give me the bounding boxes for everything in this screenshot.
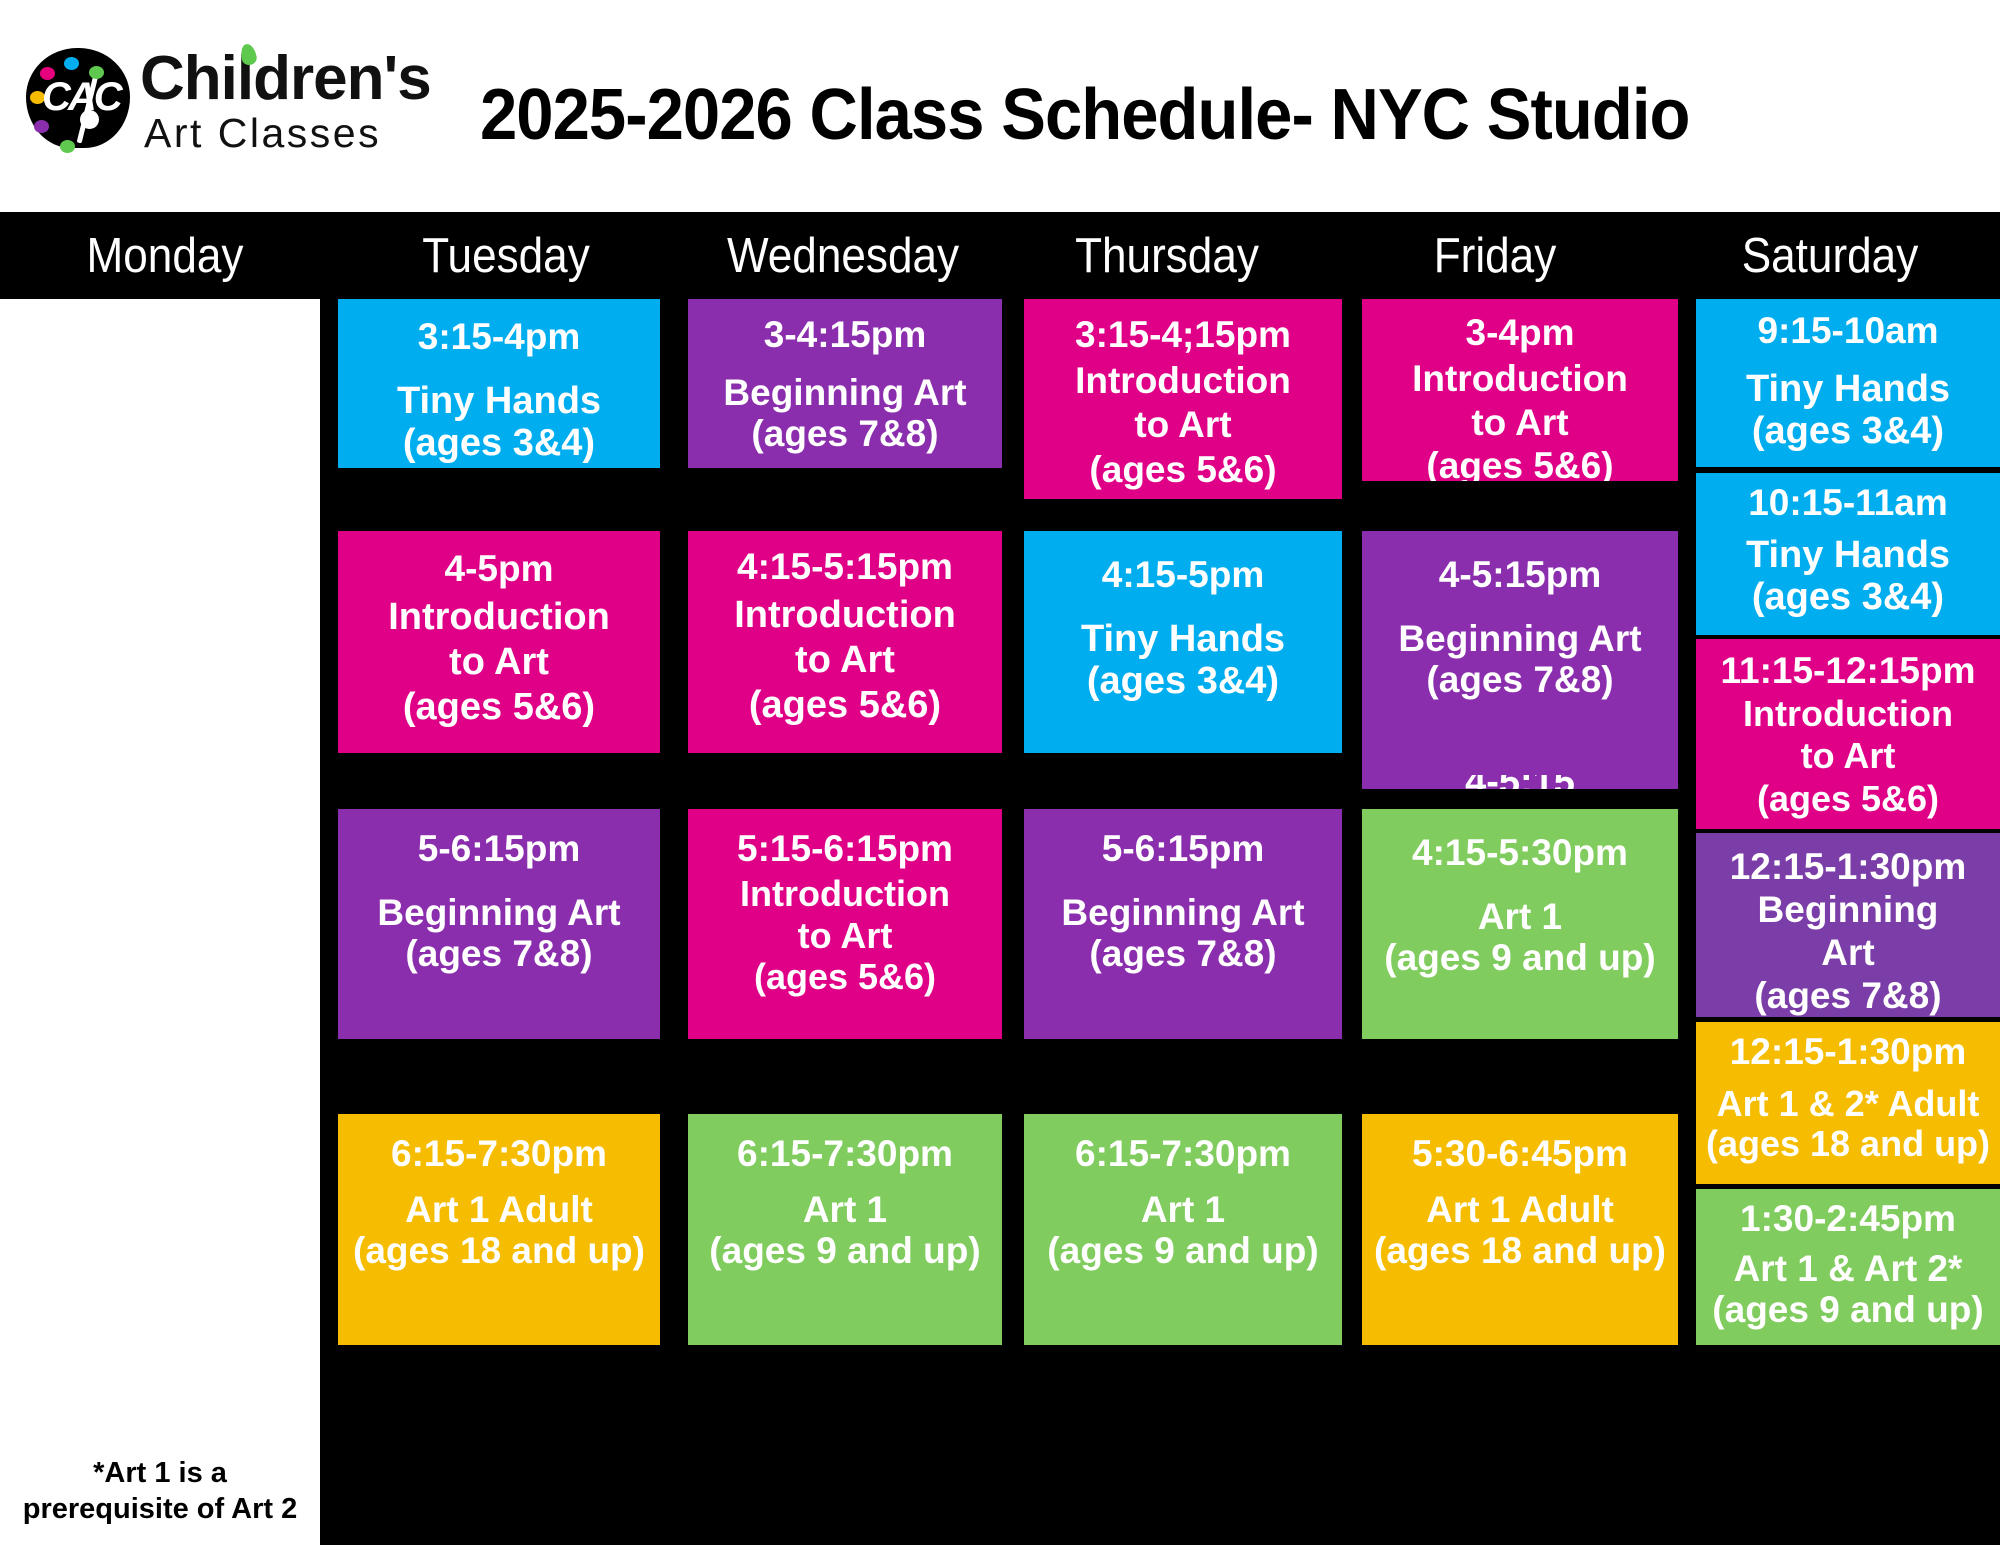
class-name-line: Art 1 Adult	[353, 1190, 645, 1231]
class-name-line: Art 1	[1047, 1190, 1318, 1231]
column-tuesday: 3:15-4pm Tiny Hands (ages 3&4) 4-5pm Int…	[320, 299, 680, 1545]
class-block-friday-3[interactable]: 4:15-5:30pm Art 1 (ages 9 and up)	[1362, 809, 1678, 1039]
class-name-line: Tiny Hands	[1746, 535, 1950, 577]
class-name-line: Introduction	[734, 593, 956, 638]
class-time: 4-5pm	[445, 549, 554, 589]
class-time: 3-4pm	[1466, 313, 1575, 353]
class-time: 5:15-6:15pm	[737, 829, 953, 869]
class-block-tuesday-4[interactable]: 6:15-7:30pm Art 1 Adult (ages 18 and up)	[338, 1114, 660, 1345]
class-time: 10:15-11am	[1748, 483, 1948, 523]
class-name-line: Art 1	[1384, 897, 1655, 938]
palette-dot-purple	[34, 120, 49, 133]
class-time: 3:15-4pm	[418, 317, 580, 357]
class-name-line: Art 1 & Art 2*	[1712, 1249, 1983, 1290]
class-block-wednesday-2[interactable]: 4:15-5:15pm Introduction to Art (ages 5&…	[688, 531, 1002, 753]
class-age-line: (ages 9 and up)	[1384, 938, 1655, 979]
class-time: 11:15-12:15pm	[1720, 651, 1975, 691]
class-block-thursday-2[interactable]: 4:15-5pm Tiny Hands (ages 3&4)	[1024, 531, 1342, 753]
class-block-saturday-4[interactable]: 12:15-1:30pm Beginning Art (ages 7&8)	[1696, 833, 2000, 1017]
class-time: 4-5:15pm	[1439, 555, 1601, 595]
column-saturday: 9:15-10am Tiny Hands (ages 3&4) 10:15-11…	[1692, 299, 2000, 1545]
day-header-wednesday: Wednesday	[698, 212, 988, 299]
brand-wordmark: Children's Art Classes	[140, 48, 431, 154]
class-name-line-2: to Art	[1743, 735, 1953, 777]
class-name-line: Beginning Art	[1398, 619, 1641, 660]
class-name-line: Beginning Art	[377, 893, 620, 934]
day-header-monday: Monday	[17, 212, 314, 299]
class-age-line: (ages 9 and up)	[1047, 1231, 1318, 1272]
class-age-line: (ages 7&8)	[377, 934, 620, 975]
class-age-line: (ages 9 and up)	[709, 1231, 980, 1272]
class-time: 6:15-7:30pm	[737, 1134, 953, 1174]
class-time: 1:30-2:45pm	[1740, 1199, 1956, 1239]
class-age-line: (ages 7&8)	[1398, 660, 1641, 701]
class-age-line: (ages 5&6)	[1743, 778, 1953, 820]
class-age-line: (ages 5&6)	[388, 685, 610, 730]
class-name-line-2: to Art	[1075, 403, 1291, 447]
class-name-line-2: to Art	[388, 640, 610, 685]
column-friday: 3-4pm Introduction to Art (ages 5&6) 4-5…	[1352, 299, 1692, 1545]
logo-monogram: CAC	[42, 75, 120, 120]
column-monday: *Art 1 is a prerequisite of Art 2	[0, 299, 320, 1545]
class-block-thursday-3[interactable]: 5-6:15pm Beginning Art (ages 7&8)	[1024, 809, 1342, 1039]
column-wednesday: 3-4:15pm Beginning Art (ages 7&8) 4:15-5…	[680, 299, 1012, 1545]
class-time: 3:15-4;15pm	[1075, 315, 1291, 355]
class-name-line: Introduction	[1075, 359, 1291, 403]
class-name-line: Art 1 & 2* Adult	[1706, 1084, 1990, 1124]
class-age-line: (ages 3&4)	[397, 423, 601, 465]
class-time: 6:15-7:30pm	[391, 1134, 607, 1174]
class-name-line: Beginning	[1754, 889, 1941, 932]
class-name-line: Art 1 Adult	[1374, 1190, 1666, 1231]
class-age-line: (ages 3&4)	[1746, 577, 1950, 619]
class-name-line-2: to Art	[740, 915, 950, 957]
class-block-tuesday-1[interactable]: 3:15-4pm Tiny Hands (ages 3&4)	[338, 299, 660, 468]
palette-dot-green-2	[60, 140, 75, 153]
class-name-line-2: to Art	[1412, 401, 1628, 445]
class-age-line: (ages 18 and up)	[1374, 1231, 1666, 1272]
class-name-line: Introduction	[740, 873, 950, 915]
class-name-line: Tiny Hands	[397, 381, 601, 423]
class-time: 4:15-5pm	[1102, 555, 1264, 595]
palette-dot-blue	[64, 57, 79, 70]
class-age-line: (ages 3&4)	[1081, 661, 1285, 703]
day-header-thursday: Thursday	[1020, 212, 1313, 299]
class-name-line-2: to Art	[734, 638, 956, 683]
class-name-line: Introduction	[1412, 357, 1628, 401]
palette-icon: CAC	[26, 48, 130, 152]
class-block-saturday-5[interactable]: 12:15-1:30pm Art 1 & 2* Adult (ages 18 a…	[1696, 1022, 2000, 1184]
class-block-saturday-6[interactable]: 1:30-2:45pm Art 1 & Art 2* (ages 9 and u…	[1696, 1189, 2000, 1345]
brand-name-line2: Art Classes	[144, 113, 431, 154]
class-block-thursday-4[interactable]: 6:15-7:30pm Art 1 (ages 9 and up)	[1024, 1114, 1342, 1345]
column-thursday: 3:15-4;15pm Introduction to Art (ages 5&…	[1012, 299, 1352, 1545]
title-band: CAC Children's Art Classes 2025-2026 Cla…	[0, 0, 2000, 212]
class-block-wednesday-3[interactable]: 5:15-6:15pm Introduction to Art (ages 5&…	[688, 809, 1002, 1039]
class-age-line: (ages 7&8)	[723, 414, 966, 455]
schedule-grid: *Art 1 is a prerequisite of Art 2 3:15-4…	[0, 299, 2000, 1545]
day-header-friday: Friday	[1347, 212, 1644, 299]
brand-name-line1: Children's	[140, 48, 431, 110]
class-block-tuesday-2[interactable]: 4-5pm Introduction to Art (ages 5&6)	[338, 531, 660, 753]
class-block-saturday-2[interactable]: 10:15-11am Tiny Hands (ages 3&4)	[1696, 473, 2000, 635]
day-header-tuesday: Tuesday	[348, 212, 665, 299]
class-time: 4:15-5:30pm	[1412, 833, 1628, 873]
clipped-overflow-text: 4-5:15	[1362, 775, 1678, 789]
footnote: *Art 1 is a prerequisite of Art 2	[0, 1455, 320, 1528]
class-age-line: (ages 7&8)	[1061, 934, 1304, 975]
class-time: 12:15-1:30pm	[1730, 847, 1967, 887]
class-time: 4:15-5:15pm	[737, 547, 953, 587]
class-age-line: (ages 5&6)	[1412, 444, 1628, 481]
class-time: 3-4:15pm	[764, 315, 926, 355]
class-time: 5-6:15pm	[418, 829, 580, 869]
class-name-line: Introduction	[1743, 693, 1953, 735]
footnote-line-2: prerequisite of Art 2	[0, 1491, 320, 1527]
class-age-line: (ages 9 and up)	[1712, 1290, 1983, 1331]
class-block-saturday-1[interactable]: 9:15-10am Tiny Hands (ages 3&4)	[1696, 299, 2000, 467]
class-age-line: (ages 3&4)	[1746, 411, 1950, 453]
class-block-thursday-1[interactable]: 3:15-4;15pm Introduction to Art (ages 5&…	[1024, 299, 1342, 499]
brand-name-line1-text: Children's	[140, 44, 431, 113]
class-age-line: (ages 5&6)	[734, 683, 956, 728]
page-title: 2025-2026 Class Schedule- NYC Studio	[480, 74, 1801, 156]
class-time: 5-6:15pm	[1102, 829, 1264, 869]
class-block-friday-1[interactable]: 3-4pm Introduction to Art (ages 5&6)	[1362, 299, 1678, 481]
class-block-friday-2[interactable]: 4-5:15pm Beginning Art (ages 7&8) 4-5:15	[1362, 531, 1678, 789]
class-age-line: (ages 5&6)	[1075, 448, 1291, 492]
footnote-line-1: *Art 1 is a	[0, 1455, 320, 1491]
class-name-line: Introduction	[388, 595, 610, 640]
class-name-line: Beginning Art	[1061, 893, 1304, 934]
class-block-wednesday-1[interactable]: 3-4:15pm Beginning Art (ages 7&8)	[688, 299, 1002, 468]
class-name-line: Tiny Hands	[1081, 619, 1285, 661]
class-block-tuesday-3[interactable]: 5-6:15pm Beginning Art (ages 7&8)	[338, 809, 660, 1039]
class-block-saturday-3[interactable]: 11:15-12:15pm Introduction to Art (ages …	[1696, 639, 2000, 829]
class-time: 9:15-10am	[1757, 311, 1938, 351]
brand-logo: CAC Children's Art Classes	[26, 48, 431, 168]
day-header-saturday: Saturday	[1677, 212, 1983, 299]
class-age-line: (ages 7&8)	[1754, 975, 1941, 1017]
class-block-friday-4[interactable]: 5:30-6:45pm Art 1 Adult (ages 18 and up)	[1362, 1114, 1678, 1345]
class-name-line: Tiny Hands	[1746, 369, 1950, 411]
class-time: 5:30-6:45pm	[1412, 1134, 1628, 1174]
class-age-line: (ages 18 and up)	[1706, 1124, 1990, 1164]
class-time: 6:15-7:30pm	[1075, 1134, 1291, 1174]
class-block-wednesday-4[interactable]: 6:15-7:30pm Art 1 (ages 9 and up)	[688, 1114, 1002, 1345]
class-name-line: Beginning Art	[723, 373, 966, 414]
day-header-bar: Monday Tuesday Wednesday Thursday Friday…	[0, 212, 2000, 299]
class-age-line: (ages 5&6)	[740, 956, 950, 998]
class-name-line: Art 1	[709, 1190, 980, 1231]
class-time: 12:15-1:30pm	[1730, 1032, 1967, 1072]
class-name-line-2: Art	[1754, 932, 1941, 975]
class-age-line: (ages 18 and up)	[353, 1231, 645, 1272]
